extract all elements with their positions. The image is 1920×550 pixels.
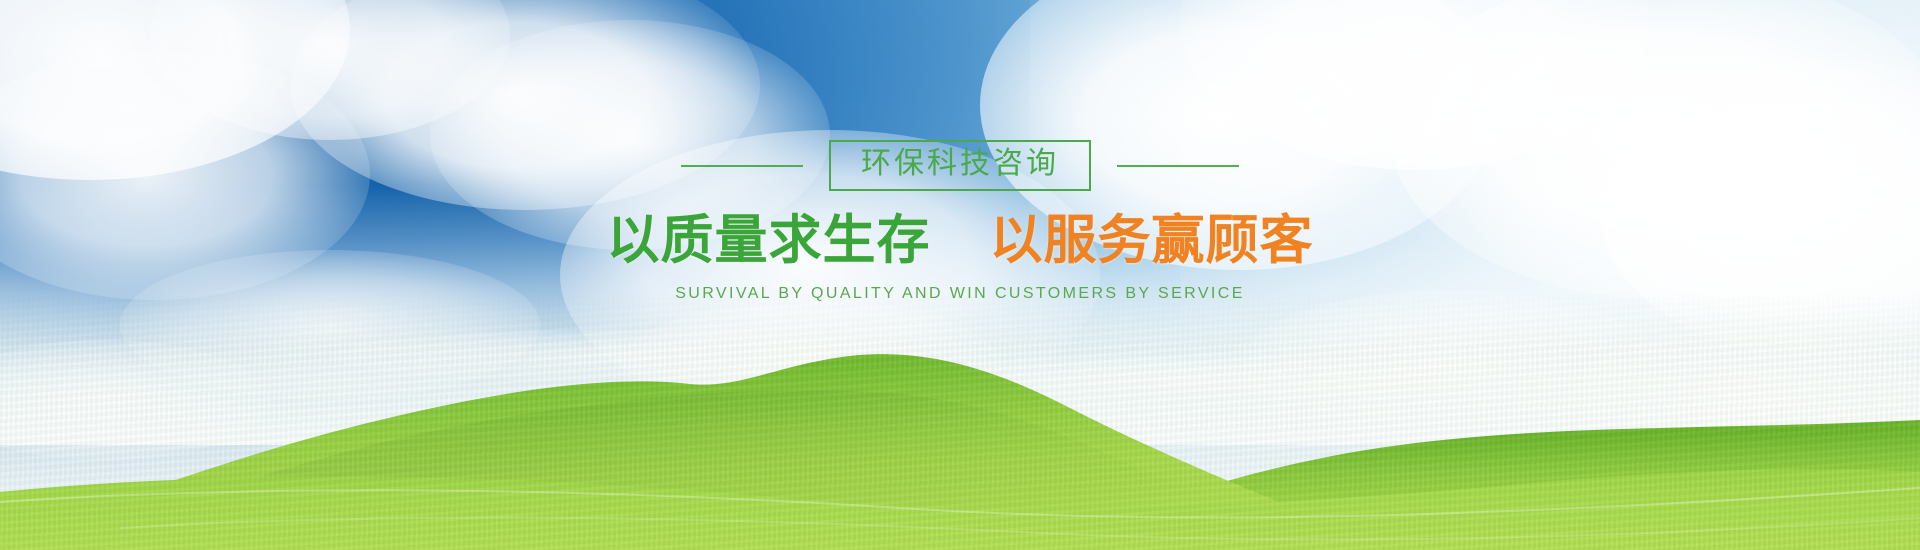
banner-content: 环保科技咨询 以质量求生存 以服务赢顾客 SURVIVAL BY QUALITY… xyxy=(0,140,1920,303)
headline-orange-part: 以服务赢顾客 xyxy=(989,210,1313,271)
category-tag-box: 环保科技咨询 xyxy=(829,140,1091,191)
category-tag-label: 环保科技咨询 xyxy=(861,146,1059,181)
headline: 以质量求生存 以服务赢顾客 xyxy=(607,211,1314,270)
eyebrow-row: 环保科技咨询 xyxy=(681,140,1239,191)
right-rule-line xyxy=(1117,165,1239,167)
hero-banner: 环保科技咨询 以质量求生存 以服务赢顾客 SURVIVAL BY QUALITY… xyxy=(0,0,1920,550)
left-rule-line xyxy=(681,165,803,167)
grass-hills xyxy=(0,260,1920,550)
english-subtitle: SURVIVAL BY QUALITY AND WIN CUSTOMERS BY… xyxy=(675,285,1245,303)
headline-green-part: 以质量求生存 xyxy=(607,210,931,271)
